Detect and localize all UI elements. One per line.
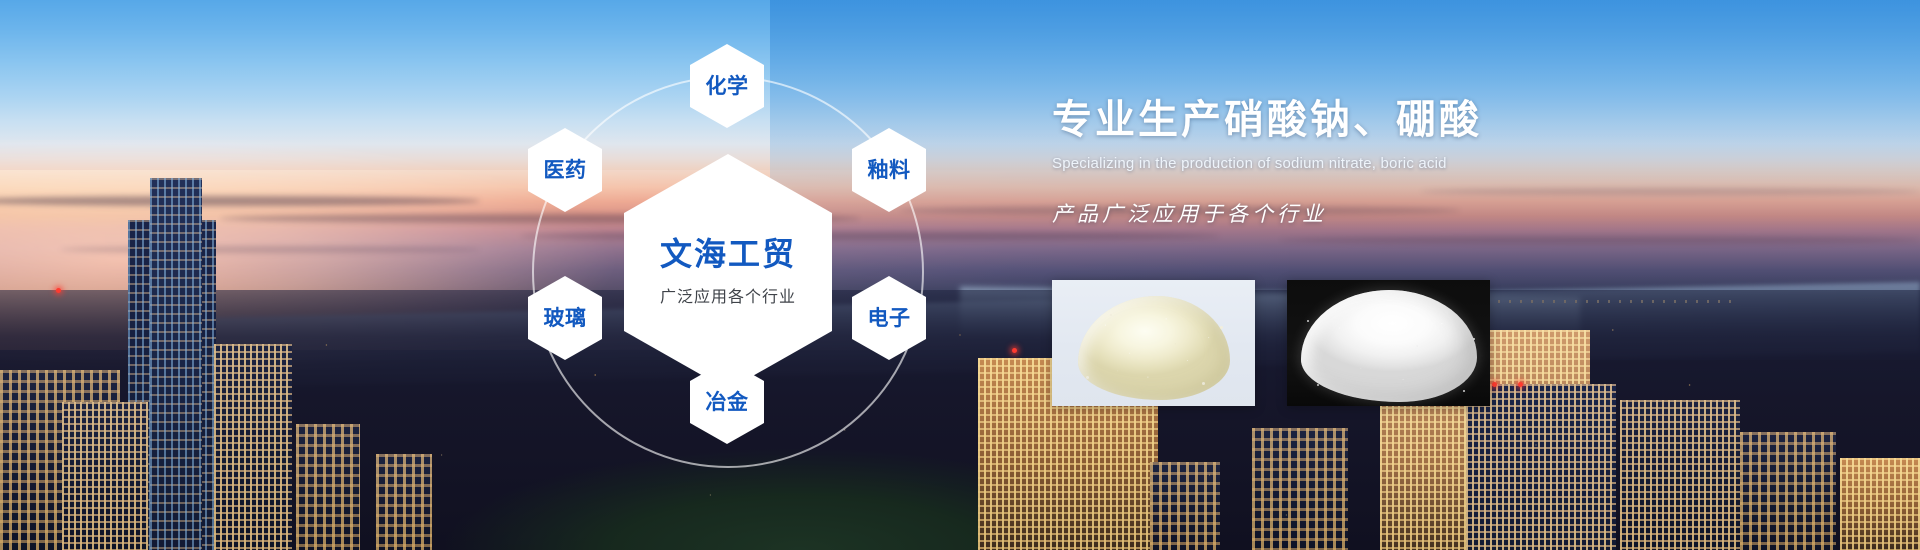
company-slogan: 广泛应用各个行业	[660, 283, 796, 307]
product-photo-boric-acid[interactable]	[1287, 280, 1490, 406]
hex-node-label: 釉料	[868, 160, 911, 181]
industry-hexagon-diagram: 化学 釉料 电子 冶金 玻璃 医药 文海工贸 广泛应用各个行业	[0, 0, 960, 550]
hex-node-label: 玻璃	[544, 308, 587, 329]
cloud-streak	[1280, 236, 1920, 244]
headline: 专业生产硝酸钠、硼酸	[1052, 96, 1872, 144]
product-photo-sodium-nitrate[interactable]	[1052, 280, 1255, 406]
powder-speck	[1317, 384, 1319, 386]
powder-heap	[1301, 290, 1477, 402]
powder-heap	[1078, 296, 1230, 400]
powder-speck	[1086, 376, 1089, 379]
promo-banner: 化学 釉料 电子 冶金 玻璃 医药 文海工贸 广泛应用各个行业 专业生产硝酸钠、…	[0, 0, 1920, 550]
company-name: 文海工贸	[660, 237, 796, 272]
hex-node-label: 医药	[544, 160, 587, 181]
powder-speck	[1463, 390, 1465, 392]
powder-speck	[1220, 326, 1223, 329]
headline-english: Specializing in the production of sodium…	[1052, 154, 1872, 174]
hex-node-label: 化学	[706, 76, 749, 97]
hex-node-label: 电子	[868, 308, 911, 329]
powder-speck	[1473, 338, 1475, 340]
powder-speck	[1202, 382, 1205, 385]
powder-speck	[1110, 314, 1112, 316]
tagline: 产品广泛应用于各个行业	[1052, 198, 1872, 228]
powder-speck	[1307, 320, 1309, 322]
hex-node-label: 冶金	[706, 392, 749, 413]
product-photo-list	[1052, 280, 1490, 406]
marketing-copy: 专业生产硝酸钠、硼酸 Specializing in the productio…	[1052, 96, 1872, 228]
